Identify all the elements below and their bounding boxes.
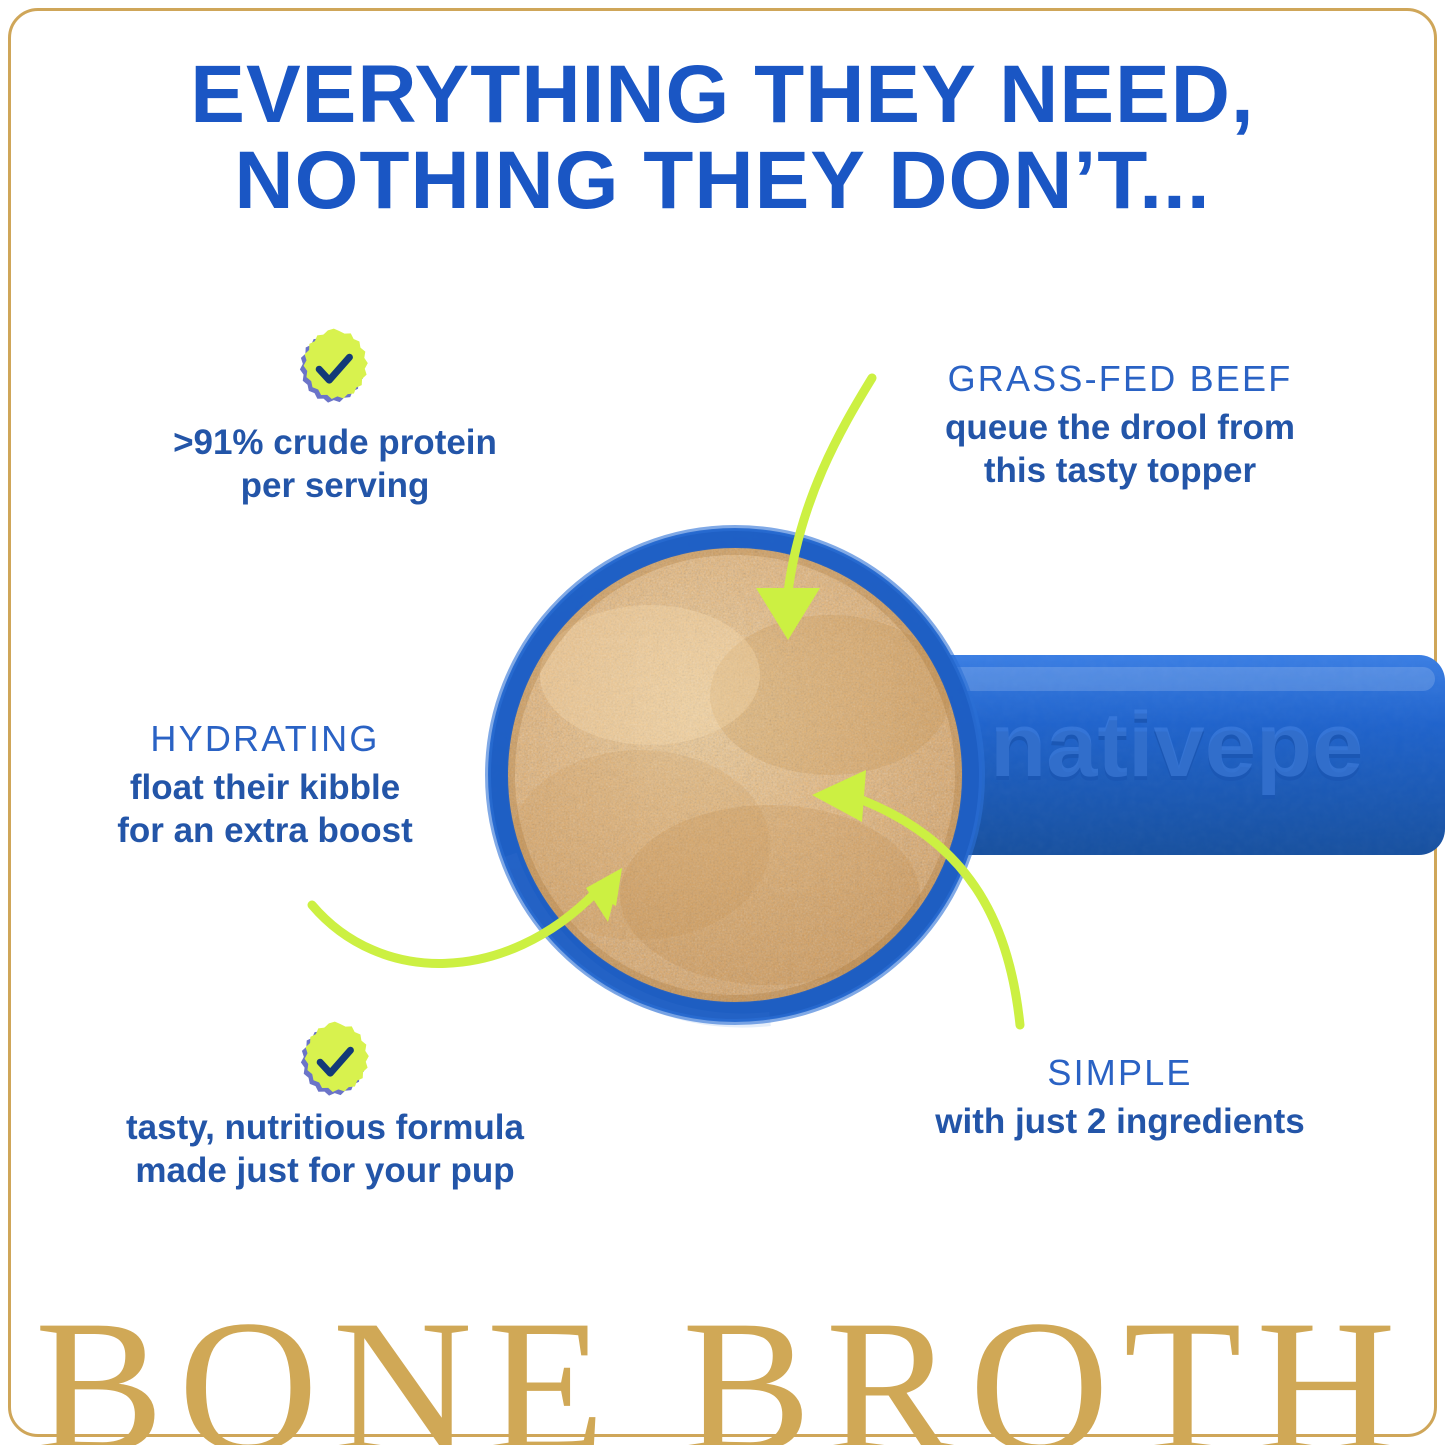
check-badge-icon [287, 1018, 379, 1110]
callout-tasty-formula-body: tasty, nutritious formula made just for … [70, 1106, 580, 1192]
headline-line-2: NOTHING THEY DON’T... [0, 138, 1445, 224]
check-badge-icon [286, 325, 378, 417]
callout-hydrating-heading: HYDRATING [45, 718, 485, 760]
infographic-page: EVERYTHING THEY NEED, NOTHING THEY DON’T… [0, 0, 1445, 1445]
page-title: EVERYTHING THEY NEED, NOTHING THEY DON’T… [0, 52, 1445, 224]
callout-simple-heading: SIMPLE [865, 1052, 1375, 1094]
callout-grass-fed-beef: GRASS-FED BEEF queue the drool from this… [865, 358, 1375, 492]
callout-simple: SIMPLE with just 2 ingredients [865, 1052, 1375, 1143]
callout-tasty-formula: tasty, nutritious formula made just for … [70, 1100, 580, 1192]
scoop-bowl [488, 528, 982, 1022]
svg-text:nativepe: nativepe [990, 694, 1363, 796]
product-wordmark: BONE BROTH [0, 1292, 1445, 1445]
callout-grass-fed-beef-heading: GRASS-FED BEEF [865, 358, 1375, 400]
callout-crude-protein-body: >91% crude protein per serving [85, 421, 585, 507]
callout-simple-body: with just 2 ingredients [865, 1100, 1375, 1143]
product-scoop-image: nativepe nativepe [470, 495, 1445, 1055]
callout-grass-fed-beef-body: queue the drool from this tasty topper [865, 406, 1375, 492]
headline-line-1: EVERYTHING THEY NEED, [0, 52, 1445, 138]
callout-hydrating-body: float their kibble for an extra boost [45, 766, 485, 852]
scoop-handle: nativepe nativepe [925, 655, 1445, 855]
callout-crude-protein: >91% crude protein per serving [85, 415, 585, 507]
callout-hydrating: HYDRATING float their kibble for an extr… [45, 718, 485, 852]
